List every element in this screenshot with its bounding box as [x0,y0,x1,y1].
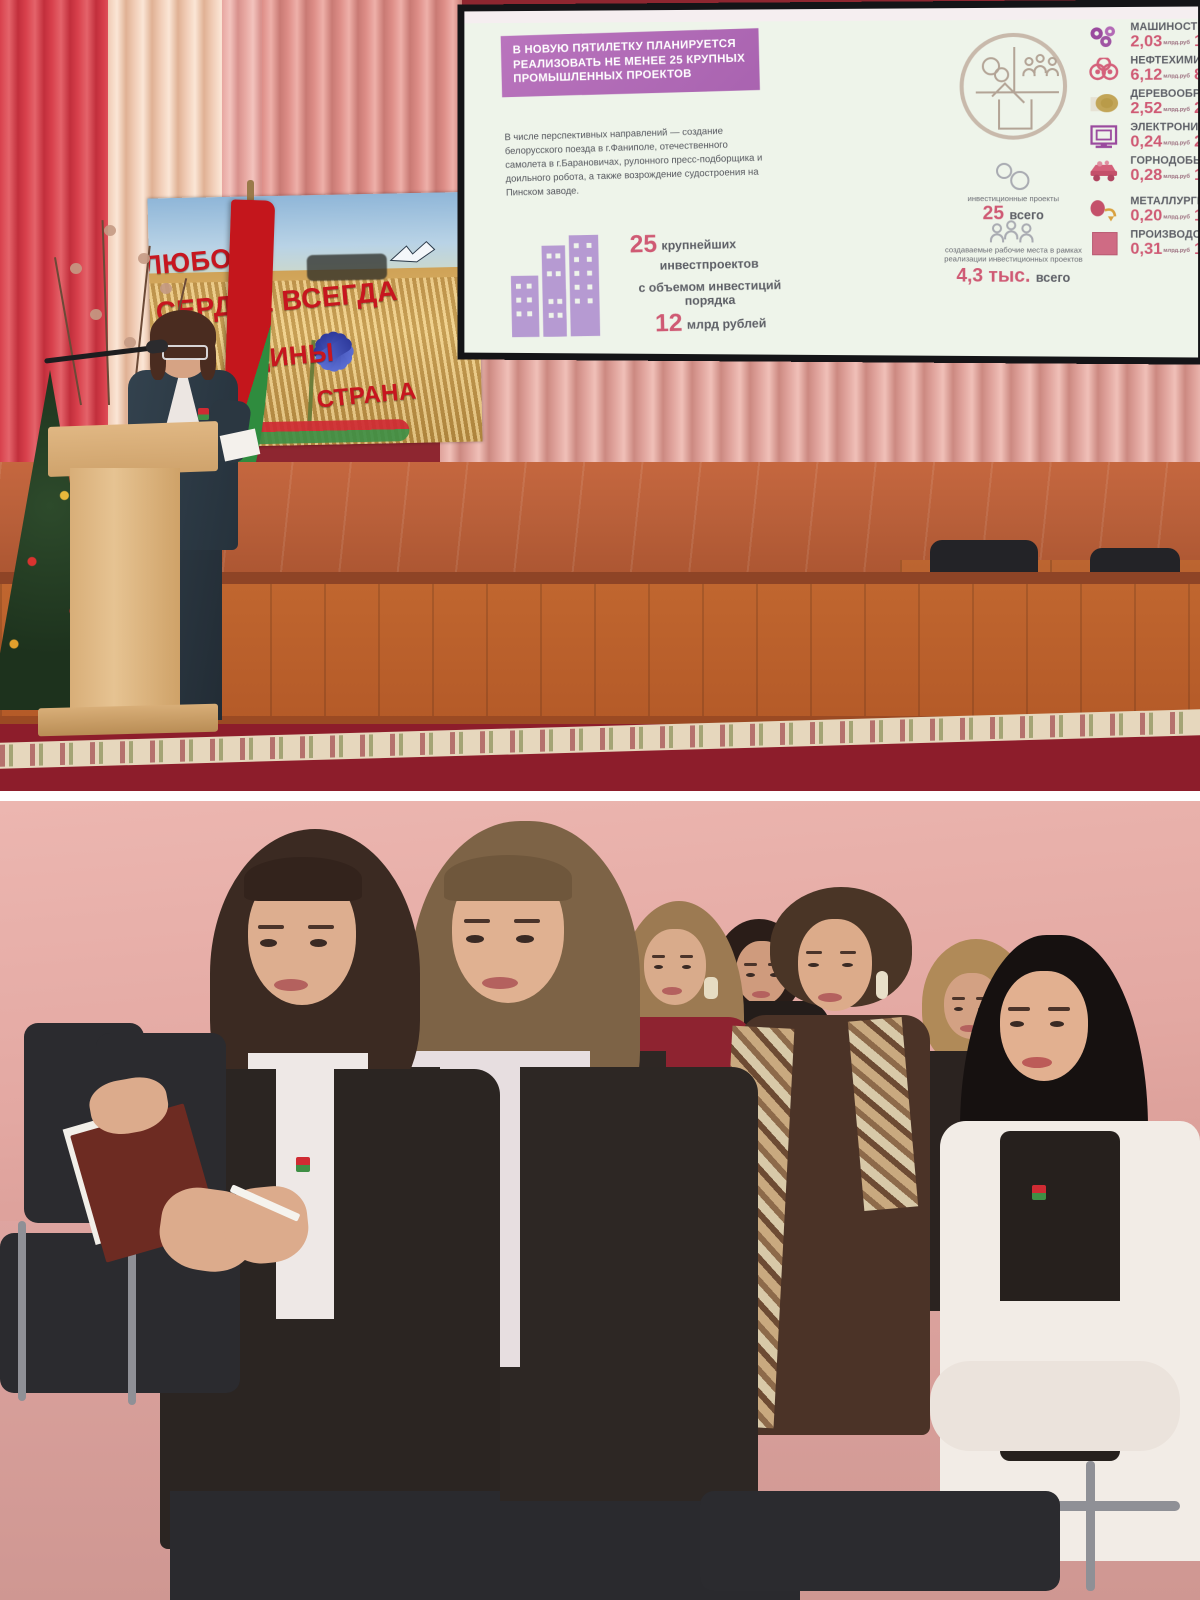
buildings-icon [506,232,626,338]
sector-name: ГОРНОДОБЫВАЮЩАЯ ПРОМЫШЛЕННОСТЬ [1130,154,1198,166]
mid-stat-value: 4,3 тыс. [956,265,1030,286]
sector-count: 8 [1194,66,1198,83]
sector-name: МЕТАЛЛУРГИЯ [1130,195,1198,207]
flag-pin [1032,1185,1046,1200]
sector-amount: 0,20 [1130,207,1162,224]
brick-icon [1087,231,1122,255]
flag-pin [296,1157,310,1172]
gears-icon [1087,24,1122,48]
sector-name: ПРОИЗВОДСТВО СТРОИТЕЛЬНЫХ МАТЕРИАЛОВ [1130,229,1198,242]
metallurgy-icon [1087,198,1122,222]
sector-unit: млрд.руб [1163,107,1190,113]
sector-row-petrochemical: НЕФТЕХИМИЯ 6,12млрд.руб8ПРОЕКТОВ [1085,53,1198,86]
earring [704,977,718,999]
sector-name: ДЕРЕВООБРАБОТКА [1130,87,1198,100]
sector-count: 2 [1194,133,1198,150]
gear-icon [994,67,1009,82]
sector-name: МАШИНОСТРОЕНИЕ [1130,19,1198,33]
sector-amount: 2,52 [1130,100,1162,117]
trousers [170,1491,500,1600]
pink-curtain-mid [262,0,462,205]
bangs [244,857,362,901]
circle-divider-horizontal [976,91,1059,93]
mining-truck-icon [1087,158,1122,182]
projects-count: 25 [629,232,657,257]
sector-unit: млрд.руб [1163,73,1190,79]
mid-stat-suffix: всего [1036,271,1071,285]
podium-base [38,704,218,737]
petrochem-icon [1087,58,1122,82]
sector-unit: млрд.руб [1163,248,1190,254]
earring [876,971,888,999]
sector-amount: 0,24 [1130,133,1162,150]
sector-row-building-materials: ПРОИЗВОДСТВО СТРОИТЕЛЬНЫХ МАТЕРИАЛОВ 0,3… [1085,228,1198,278]
sector-amount: 0,31 [1130,241,1162,258]
investment-volume-unit: млрд рублей [687,317,767,332]
sector-count: 1 [1194,241,1198,258]
monitor-icon [1087,124,1122,148]
sector-unit: млрд.руб [1163,214,1190,220]
economy-circle-icon [960,33,1067,140]
speaker-glasses [162,345,208,360]
sector-row-electronics: ЭЛЕКТРОНИКА 0,24млрд.руб2ПРОЕКТА [1085,121,1198,153]
chair-seat [700,1491,1060,1591]
bangs [444,855,572,901]
investment-projects-block: 25 крупнейших инвестпроектов с объемом и… [629,229,790,337]
chair-frame [1086,1461,1095,1591]
people-group-icon [990,221,1037,243]
gears-icon [992,161,1035,191]
projects-label-2: инвестпроектов [660,258,759,274]
sector-count: 1 [1194,207,1198,224]
sector-amount: 6,12 [1130,67,1162,84]
sector-count: 1 [1194,167,1198,184]
house-icon [998,99,1032,129]
mid-stat-investment-projects: инвестиционные проекты 25 всего [937,161,1089,227]
sector-name: НЕФТЕХИМИЯ [1130,53,1198,67]
podium-body [70,468,180,718]
projection-screen-frame: В НОВУЮ ПЯТИЛЕТКУ ПЛАНИРУЕТСЯ РЕАЛИЗОВАТ… [458,0,1200,365]
investment-volume-number: 12 [655,311,683,336]
sector-statistics-list: МАШИНОСТРОЕНИЕ 2,03млрд.руб10ПРОЕКТОВ Н [1085,19,1198,280]
investment-volume-label: с объемом инвестиций порядка [631,278,790,309]
sector-row-woodworking: ДЕРЕВООБРАБОТКА 2,52млрд.руб2ПРОЕКТА [1085,87,1198,120]
slide-paragraph: В числе перспективных направлений — созд… [504,123,770,200]
projects-label-1: крупнейших [661,238,736,253]
chair-frame [18,1221,26,1401]
mid-stat-jobs: создаваемые рабочие места в рамках реали… [937,221,1089,289]
sector-count: 2 [1194,100,1198,117]
wood-icon [1087,91,1122,115]
slide-title: В НОВУЮ ПЯТИЛЕТКУ ПЛАНИРУЕТСЯ РЕАЛИЗОВАТ… [501,28,760,97]
speaker-flag-pin [198,408,209,420]
sector-name: ЭЛЕКТРОНИКА [1130,121,1198,134]
photo-conference-hall: ЛЮБОВЬ СЕРДЦЕ ВСЕГДА ДИНЫ СТРАНА [0,0,1200,791]
circle-divider-vertical [1013,47,1015,91]
banner-stork-icon [387,237,440,268]
mid-stat-suffix: всего [1009,208,1043,222]
sector-row-machinery: МАШИНОСТРОЕНИЕ 2,03млрд.руб10ПРОЕКТОВ [1085,19,1198,52]
sector-row-metallurgy: МЕТАЛЛУРГИЯ 0,20млрд.руб1ПРОЕКТ [1085,195,1198,227]
photo-audience [0,801,1200,1600]
sector-amount: 2,03 [1130,33,1162,50]
sector-unit: млрд.руб [1163,140,1190,146]
sector-amount: 0,28 [1130,167,1162,184]
sector-unit: млрд.руб [1163,174,1190,180]
presentation-slide: В НОВУЮ ПЯТИЛЕТКУ ПЛАНИРУЕТСЯ РЕАЛИЗОВАТ… [464,7,1198,358]
sector-count: 10 [1194,33,1198,50]
mid-stat-caption: инвестиционные проекты [937,194,1089,203]
two-photo-collage: ЛЮБОВЬ СЕРДЦЕ ВСЕГДА ДИНЫ СТРАНА [0,0,1200,1600]
mid-stat-caption: создаваемые рабочие места в рамках реали… [937,245,1089,264]
crossed-arms [930,1361,1180,1451]
sector-unit: млрд.руб [1163,40,1190,46]
sector-row-mining: ГОРНОДОБЫВАЮЩАЯ ПРОМЫШЛЕННОСТЬ 0,28млрд.… [1085,154,1198,193]
